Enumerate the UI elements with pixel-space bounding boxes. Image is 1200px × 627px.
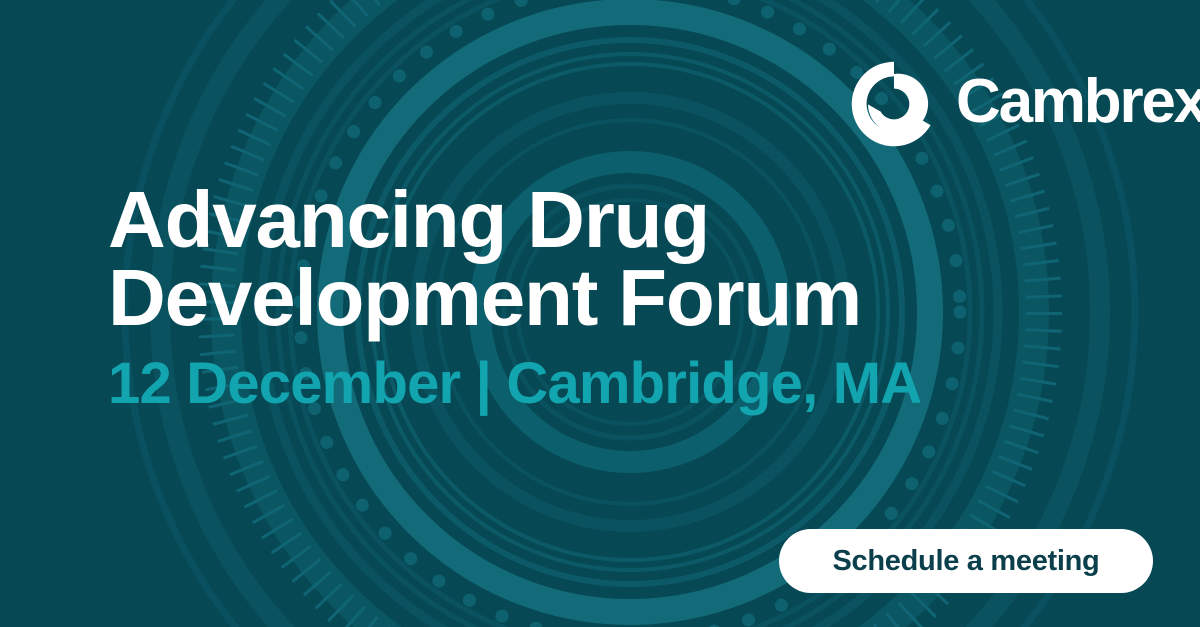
cambrex-logo[interactable]: Cambrex xyxy=(846,52,1200,156)
headline-line-1: Advancing Drug xyxy=(108,181,1108,259)
cambrex-wordmark: Cambrex xyxy=(956,69,1200,139)
event-promo-banner: Cambrex Advancing Drug Development Forum… xyxy=(0,0,1200,627)
schedule-a-meeting-button[interactable]: Schedule a meeting xyxy=(779,529,1153,593)
logo-wordmark-text: Cambrex xyxy=(956,69,1200,136)
cambrex-c-mark-icon xyxy=(846,56,942,152)
event-date-location: 12 December | Cambridge, MA xyxy=(108,349,1108,419)
headline-block: Advancing Drug Development Forum 12 Dece… xyxy=(108,181,1108,419)
headline-line-2: Development Forum xyxy=(108,259,1108,337)
